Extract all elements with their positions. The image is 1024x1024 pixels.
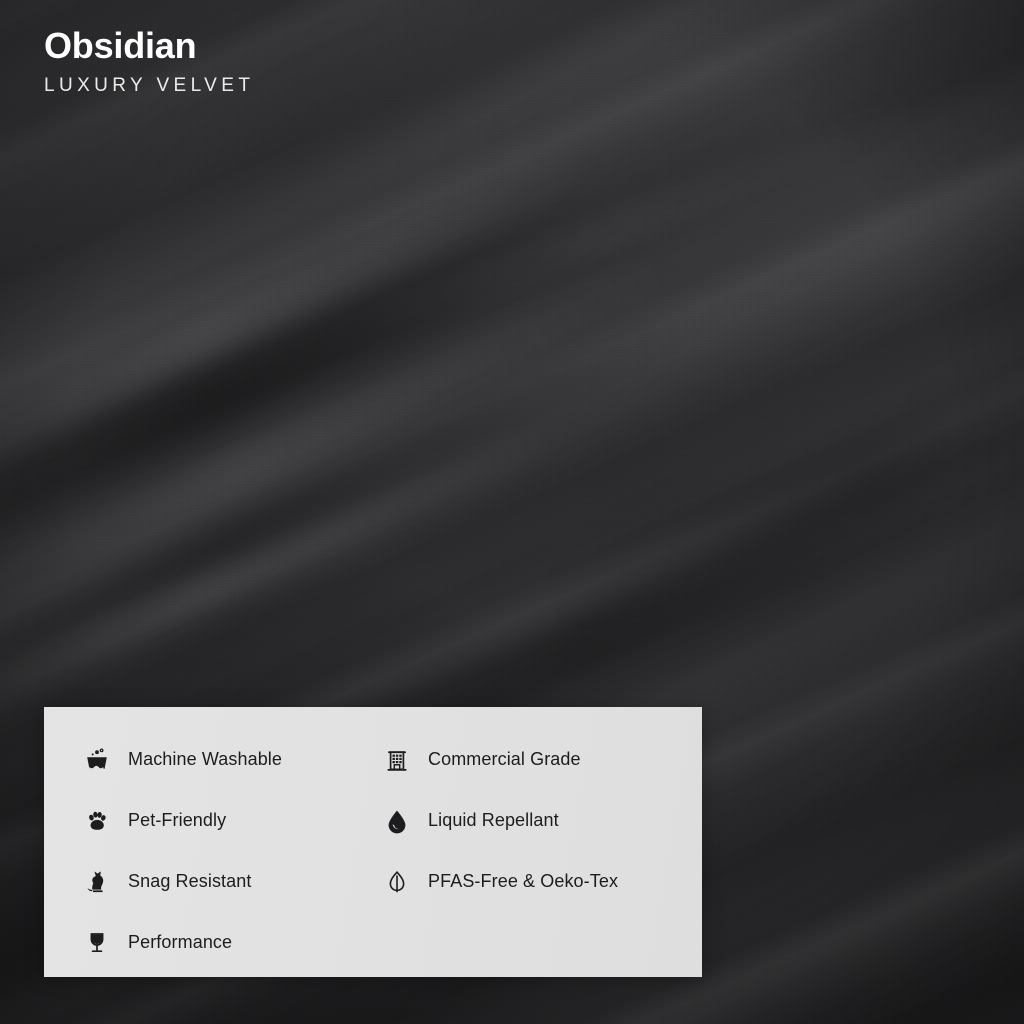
product-subtitle: LUXURY VELVET bbox=[44, 75, 254, 97]
feature-label: Liquid Repellant bbox=[428, 810, 559, 831]
product-title: Obsidian bbox=[44, 26, 254, 66]
feature-pet-friendly: Pet-Friendly bbox=[44, 790, 344, 851]
wash-basin-icon bbox=[82, 745, 112, 775]
paw-print-icon bbox=[82, 806, 112, 836]
feature-commercial-grade: Commercial Grade bbox=[344, 729, 702, 790]
feature-performance: Performance bbox=[44, 912, 344, 973]
product-swatch-card: Obsidian LUXURY VELVET Machine Washable bbox=[0, 0, 1024, 1024]
feature-label: Machine Washable bbox=[128, 749, 282, 770]
leaf-icon bbox=[382, 867, 412, 897]
feature-label: Performance bbox=[128, 932, 232, 953]
feature-liquid-repellant: Liquid Repellant bbox=[344, 790, 702, 851]
feature-grid: Machine Washable bbox=[44, 707, 702, 977]
feature-snag-resistant: Snag Resistant bbox=[44, 851, 344, 912]
feature-label: Commercial Grade bbox=[428, 749, 581, 770]
feature-pfas-free-oeko-tex: PFAS-Free & Oeko-Tex bbox=[344, 851, 702, 912]
wine-glass-icon bbox=[82, 928, 112, 958]
product-header: Obsidian LUXURY VELVET bbox=[44, 26, 254, 97]
feature-label: PFAS-Free & Oeko-Tex bbox=[428, 871, 618, 892]
building-icon bbox=[382, 745, 412, 775]
water-drop-icon bbox=[382, 806, 412, 836]
feature-label: Snag Resistant bbox=[128, 871, 251, 892]
feature-label: Pet-Friendly bbox=[128, 810, 226, 831]
feature-machine-washable: Machine Washable bbox=[44, 729, 344, 790]
feature-panel: Machine Washable bbox=[44, 707, 702, 977]
cat-icon bbox=[82, 867, 112, 897]
